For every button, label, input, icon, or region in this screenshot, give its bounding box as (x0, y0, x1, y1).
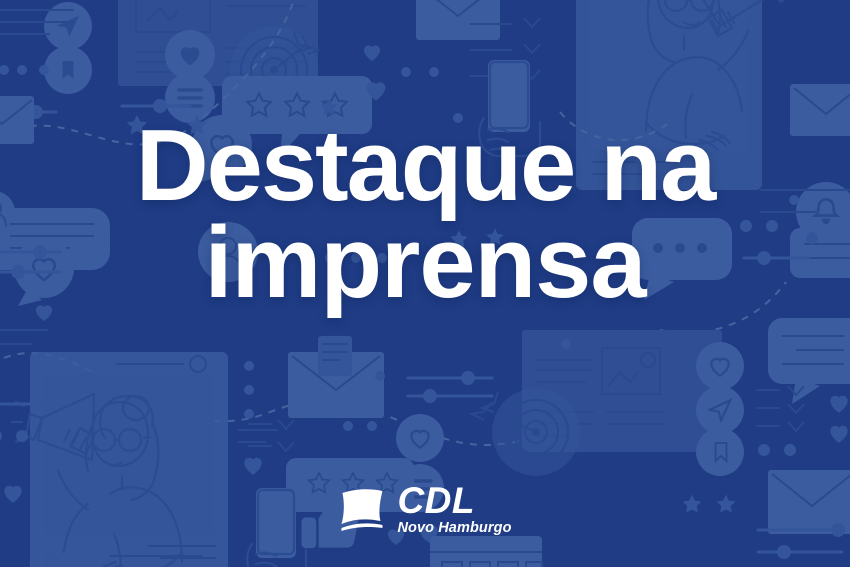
dots-icon-bottomleft (244, 361, 254, 419)
heart-circle-3 (696, 342, 744, 390)
target-icon-bottom (472, 388, 580, 476)
cdl-logo-city: Novo Hamburgo (397, 521, 511, 536)
article-card-top-inner (136, 0, 210, 32)
headline-line-2: imprensa (0, 215, 850, 312)
dots-icon-center (343, 421, 377, 431)
slider-icon-2 (0, 105, 56, 119)
dots-icon-left-bottom (0, 430, 54, 442)
heart-icon (4, 486, 21, 503)
chevron-down-icon-group-1 (470, 18, 540, 79)
text-lines-left-bottom (0, 330, 48, 344)
cdl-logo: CDL Novo Hamburgo (338, 484, 511, 535)
bookmark-circle-icon (44, 46, 92, 94)
heart-circle-1 (165, 30, 215, 80)
heart-icon (804, 101, 819, 115)
dots-icon-bottomright (758, 444, 796, 456)
slider-icon-6 (758, 523, 845, 537)
headline-line-1: Destaque na (0, 118, 850, 215)
slider-icon-8 (0, 397, 68, 411)
cdl-flag-mark-icon (338, 487, 390, 533)
headline: Destaque na imprensa (0, 118, 850, 312)
text-lines-topleft (0, 10, 74, 34)
send-circle-icon (44, 2, 92, 50)
phone-in-hand-icon-bottom (247, 488, 306, 567)
slider-icon-4 (408, 371, 492, 385)
calendar-icon (430, 536, 542, 567)
slider-icon-7 (758, 545, 842, 559)
heart-icon (830, 396, 847, 413)
heart-icon (244, 458, 261, 475)
envelope-icon-bottom-center (288, 336, 384, 418)
dashed-wave-icon-mid (0, 353, 730, 445)
star-icon (717, 495, 736, 513)
speech-bubble-lines-right (768, 318, 850, 404)
cdl-logo-name: CDL (397, 484, 475, 518)
heart-icon (367, 82, 386, 100)
dots-icon-left (0, 65, 49, 75)
send-circle-2 (696, 386, 744, 434)
article-card-bottom (522, 330, 722, 452)
target-icon-top (230, 26, 318, 114)
chevron-down-icon-group-3 (756, 386, 804, 431)
hamburger-menu-icon (179, 90, 201, 106)
envelope-icon-bottom-right (768, 470, 850, 534)
cdl-logo-text: CDL Novo Hamburgo (397, 484, 511, 535)
heart-circle-2 (396, 414, 444, 462)
envelope-icon-top (416, 0, 500, 40)
woman-with-megaphone-bottom-left (12, 352, 228, 567)
article-card-top (118, 0, 318, 86)
heart-icon (364, 45, 380, 61)
bookmark-circle-2 (696, 428, 744, 476)
heart-icon (830, 426, 847, 443)
slider-icon-5 (408, 389, 492, 403)
press-highlight-banner: .fl { fill: #3b5c9f; } /* light filled s… (0, 0, 850, 567)
text-lines-bottomleft (238, 430, 278, 442)
text-lines-bottom (110, 556, 202, 567)
star-icon (683, 495, 702, 513)
chevron-down-icon-group-2 (248, 420, 294, 451)
